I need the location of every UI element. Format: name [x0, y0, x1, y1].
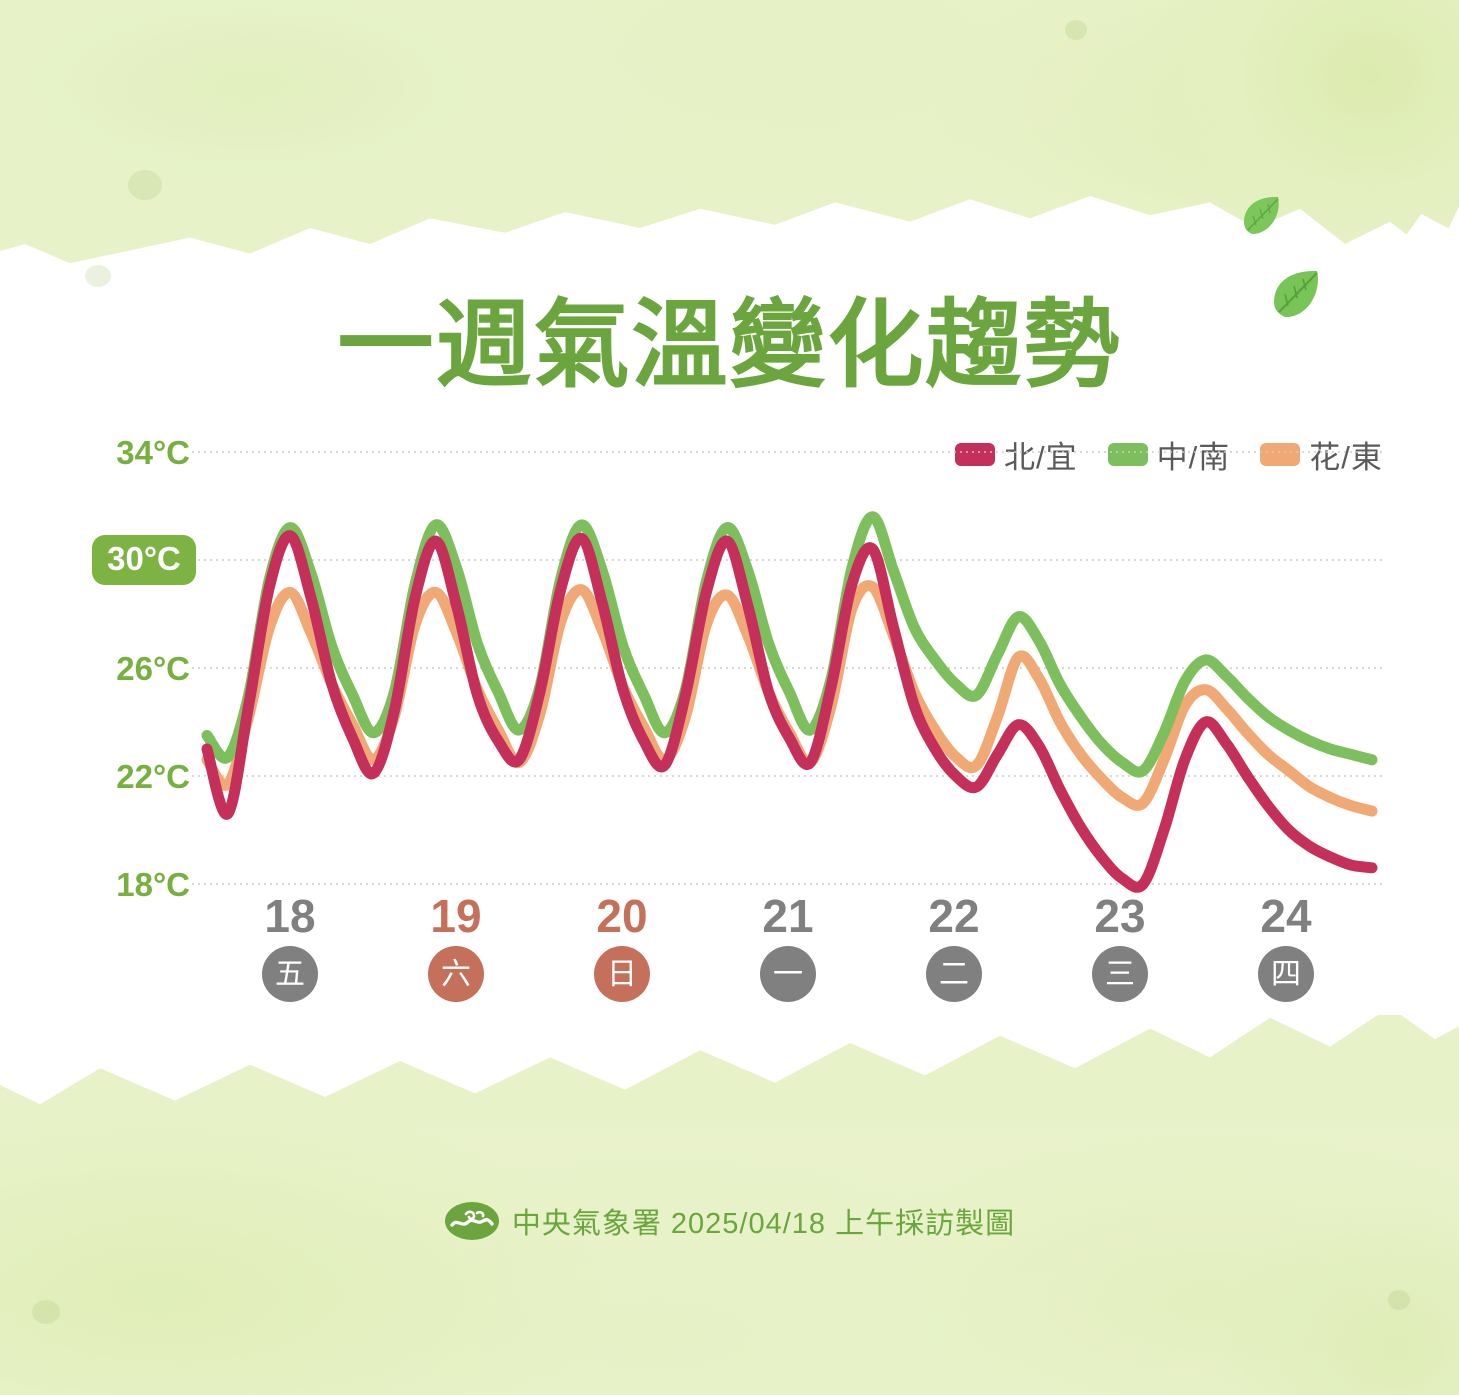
weekday-badge: 六	[428, 946, 484, 1002]
x-axis-day-20[interactable]: 20日	[557, 890, 687, 1002]
x-axis-day-22[interactable]: 22二	[889, 890, 1019, 1002]
temperature-chart: 34°C 30°C 26°C 22°C 18°C	[0, 420, 1459, 920]
x-axis-day-19[interactable]: 19六	[391, 890, 521, 1002]
weekday-badge: 四	[1258, 946, 1314, 1002]
footer-credit-text: 中央氣象署 2025/04/18 上午採訪製圖	[512, 1200, 1015, 1242]
watercolor-wash-top-right	[1139, 0, 1459, 300]
y-axis-label-30-highlighted: 30°C	[92, 535, 196, 585]
leaf-icon-small	[1238, 192, 1288, 240]
x-axis-days: 18五19六20日21一22二23三24四	[0, 890, 1459, 1020]
paper-speck	[1388, 1290, 1410, 1310]
x-axis-day-24[interactable]: 24四	[1221, 890, 1351, 1002]
chart-series-group	[207, 517, 1372, 887]
day-number: 20	[557, 890, 687, 942]
paper-speck	[1065, 20, 1087, 40]
weekday-badge: 日	[594, 946, 650, 1002]
paper-speck	[32, 1300, 60, 1324]
weekday-badge: 五	[262, 946, 318, 1002]
y-axis-label-22: 22°C	[60, 758, 190, 796]
footer: 中央氣象署 2025/04/18 上午採訪製圖	[0, 1200, 1459, 1242]
day-number: 23	[1055, 890, 1185, 942]
x-axis-day-23[interactable]: 23三	[1055, 890, 1185, 1002]
weather-trend-infographic: 一週氣溫變化趨勢 北/宜 中/南 花/東 34°C 30°C 26°C 22°C…	[0, 0, 1459, 1395]
day-number: 18	[225, 890, 355, 942]
weekday-badge: 二	[926, 946, 982, 1002]
chart-gridlines	[192, 452, 1382, 884]
y-axis-label-34: 34°C	[60, 434, 190, 472]
day-number: 19	[391, 890, 521, 942]
watercolor-wash-top	[0, 0, 1459, 310]
y-axis-label-26: 26°C	[60, 650, 190, 688]
paper-speck	[128, 170, 162, 200]
day-number: 22	[889, 890, 1019, 942]
weekday-badge: 一	[760, 946, 816, 1002]
x-axis-day-18[interactable]: 18五	[225, 890, 355, 1002]
day-number: 21	[723, 890, 853, 942]
page-title: 一週氣溫變化趨勢	[0, 296, 1459, 397]
series-line-北/宜	[207, 536, 1372, 888]
paper-speck	[85, 265, 111, 287]
cwa-wave-logo-icon	[444, 1201, 500, 1241]
weekday-badge: 三	[1092, 946, 1148, 1002]
day-number: 24	[1221, 890, 1351, 942]
x-axis-day-21[interactable]: 21一	[723, 890, 853, 1002]
chart-plot-svg	[0, 420, 1459, 920]
